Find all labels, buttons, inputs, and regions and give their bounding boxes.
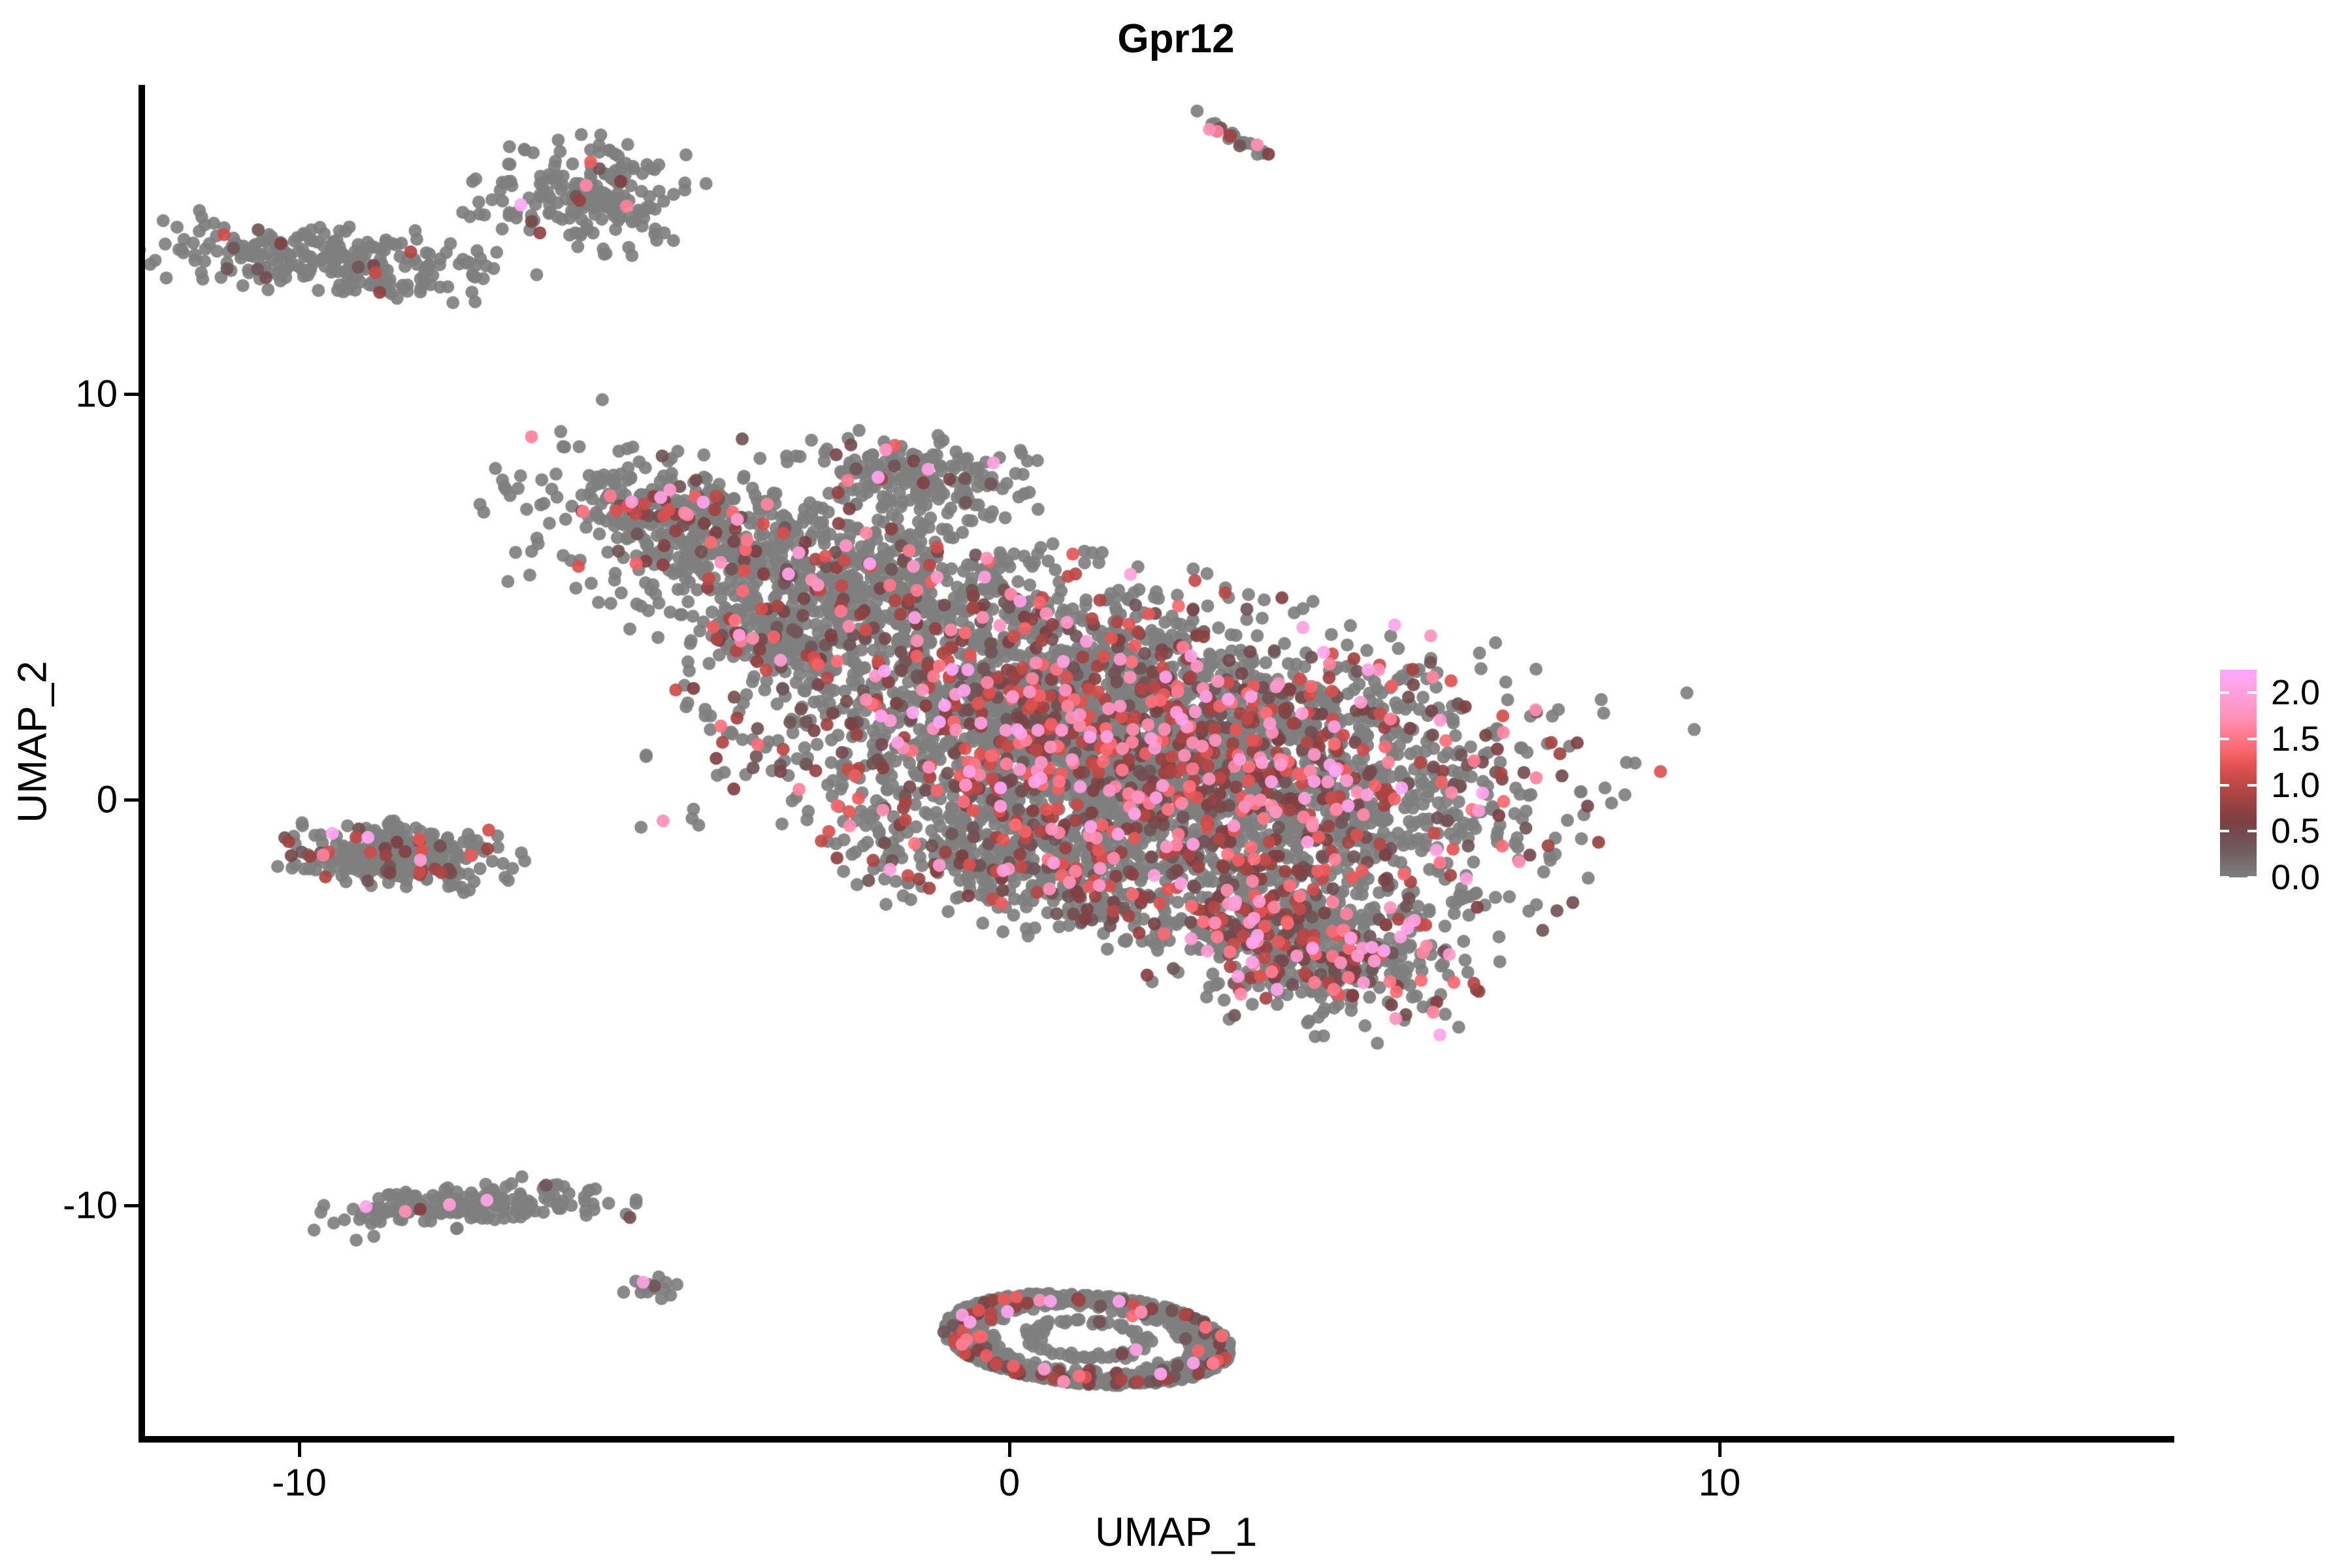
x-tick-mark [1008,1443,1011,1457]
y-tick-mark [124,1204,139,1207]
colorbar-legend: 0.00.51.01.52.0 [2220,670,2344,879]
colorbar-tick [2247,876,2257,879]
colorbar-tick [2220,738,2229,740]
y-tick-label: 10 [0,372,118,416]
scatter-point-layer [145,85,2174,1440]
colorbar-tick-label: 1.5 [2271,719,2320,759]
x-tick-label: -10 [272,1461,327,1505]
colorbar-gradient [2220,670,2257,877]
colorbar-tick [2220,691,2229,694]
colorbar-tick [2247,738,2257,740]
x-tick-mark [1718,1443,1722,1457]
x-axis-title: UMAP_1 [0,1509,2352,1556]
x-axis-line [139,1436,2174,1443]
colorbar-tick [2220,784,2229,787]
colorbar-tick-label: 0.5 [2271,811,2320,851]
plot-panel [145,85,2174,1440]
x-tick-label: 10 [1699,1461,1741,1505]
colorbar-tick [2247,784,2257,787]
y-tick-label: -10 [0,1184,118,1228]
y-tick-mark [124,393,139,396]
colorbar-tick [2247,830,2257,832]
x-tick-label: 0 [999,1461,1020,1505]
colorbar-tick [2220,830,2229,832]
colorbar-tick [2247,691,2257,694]
colorbar-tick [2220,876,2229,879]
umap-feature-plot: Gpr12 -10010 100-10 UMAP_1 UMAP_2 0.00.5… [0,0,2352,1568]
y-axis-line [139,85,145,1443]
colorbar-tick-label: 2.0 [2271,672,2320,713]
y-tick-mark [124,798,139,802]
colorbar-tick-label: 0.0 [2271,857,2320,898]
x-tick-mark [298,1443,301,1457]
y-axis-title: UMAP_2 [10,514,56,971]
colorbar-tick-label: 1.0 [2271,765,2320,806]
page-title: Gpr12 [0,16,2352,62]
